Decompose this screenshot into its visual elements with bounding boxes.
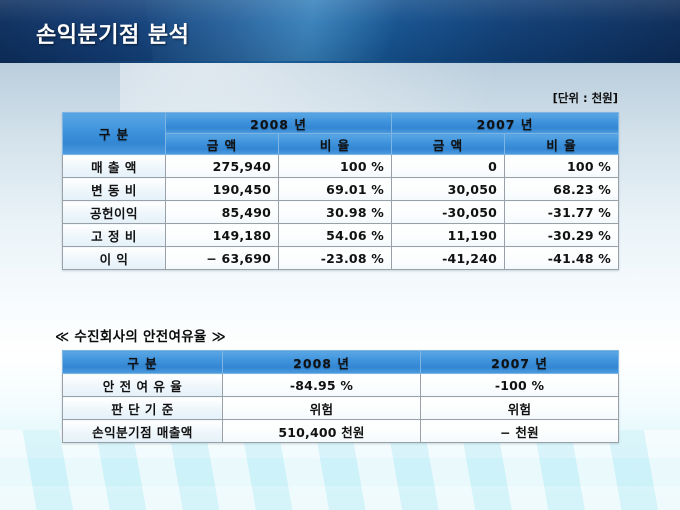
fixed-cost-ratio-2008: 54.06 % [279,224,392,247]
row-label-contribution-margin: 공헌이익 [63,201,166,224]
row-label-sales: 매 출 액 [63,155,166,178]
table-row: 고 정 비 149,180 54.06 % 11,190 -30.29 % [63,224,619,247]
variable-cost-ratio-2008: 69.01 % [279,178,392,201]
title-bar-highlight [143,0,486,61]
table-row: 매 출 액 275,940 100 % 0 100 % [63,155,619,178]
break-even-table: 구 분 2008 년 2007 년 금 액 비 율 금 액 비 율 매 출 액 … [62,112,619,270]
row-label-profit: 이 익 [63,247,166,270]
row-label-break-even-sales: 손익분기점 매출액 [63,420,223,443]
margin-of-safety-table: 구 분 2008 년 2007 년 안 전 여 유 율 -84.95 % -10… [62,350,619,443]
profit-ratio-2007: -41.48 % [505,247,619,270]
contribution-margin-ratio-2007: -31.77 % [505,201,619,224]
break-even-sales-2008: 510,400 천원 [223,420,421,443]
sales-ratio-2007: 100 % [505,155,619,178]
judgement-criteria-2008: 위험 [223,397,421,420]
profit-ratio-2008: -23.08 % [279,247,392,270]
sales-amount-2008: 275,940 [166,155,279,178]
fixed-cost-amount-2008: 149,180 [166,224,279,247]
safety-header-year-2008: 2008 년 [223,351,421,374]
header-category: 구 분 [63,113,166,155]
sales-amount-2007: 0 [392,155,505,178]
profit-amount-2008: − 63,690 [166,247,279,270]
contribution-margin-ratio-2008: 30.98 % [279,201,392,224]
margin-of-safety-ratio-2008: -84.95 % [223,374,421,397]
contribution-margin-amount-2008: 85,490 [166,201,279,224]
unit-note: [단위 : 천원] [553,90,618,106]
profit-amount-2007: -41,240 [392,247,505,270]
header-ratio-2007: 비 율 [505,134,619,155]
table-row: 변 동 비 190,450 69.01 % 30,050 68.23 % [63,178,619,201]
table-header-row-top: 구 분 2008 년 2007 년 [63,113,619,134]
row-label-fixed-cost: 고 정 비 [63,224,166,247]
row-label-variable-cost: 변 동 비 [63,178,166,201]
row-label-judgement-criteria: 판 단 기 준 [63,397,223,420]
fixed-cost-amount-2007: 11,190 [392,224,505,247]
table-row: 판 단 기 준 위험 위험 [63,397,619,420]
table-row: 손익분기점 매출액 510,400 천원 − 천원 [63,420,619,443]
contribution-margin-amount-2007: -30,050 [392,201,505,224]
header-year-2008: 2008 년 [166,113,392,134]
safety-header-year-2007: 2007 년 [421,351,619,374]
table-header-row: 구 분 2008 년 2007 년 [63,351,619,374]
variable-cost-ratio-2007: 68.23 % [505,178,619,201]
sales-ratio-2008: 100 % [279,155,392,178]
header-amount-2007: 금 액 [392,134,505,155]
table-row: 이 익 − 63,690 -23.08 % -41,240 -41.48 % [63,247,619,270]
judgement-criteria-2007: 위험 [421,397,619,420]
fixed-cost-ratio-2007: -30.29 % [505,224,619,247]
row-label-margin-of-safety-ratio: 안 전 여 유 율 [63,374,223,397]
header-ratio-2008: 비 율 [279,134,392,155]
page-title: 손익분기점 분석 [36,17,189,49]
table-row: 안 전 여 유 율 -84.95 % -100 % [63,374,619,397]
header-year-2007: 2007 년 [392,113,619,134]
break-even-sales-2007: − 천원 [421,420,619,443]
safety-header-category: 구 분 [63,351,223,374]
margin-of-safety-ratio-2007: -100 % [421,374,619,397]
variable-cost-amount-2007: 30,050 [392,178,505,201]
variable-cost-amount-2008: 190,450 [166,178,279,201]
slide-canvas: 손익분기점 분석 [단위 : 천원] 구 분 2008 년 2007 년 금 액… [0,0,680,510]
header-amount-2008: 금 액 [166,134,279,155]
title-bar-underline [0,61,680,63]
table-row: 공헌이익 85,490 30.98 % -30,050 -31.77 % [63,201,619,224]
section-heading-margin-of-safety: ≪ 수진회사의 안전여유율 ≫ [55,325,226,345]
